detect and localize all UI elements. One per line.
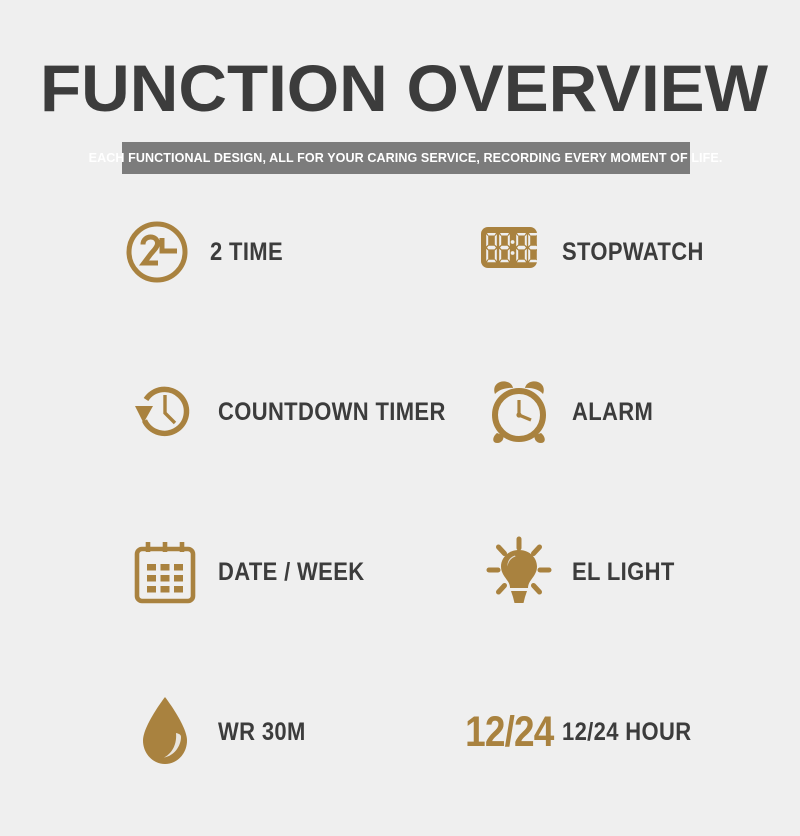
twelve-twentyfour-text-icon: 12/24	[470, 693, 548, 771]
two-time-clock-icon	[118, 213, 196, 291]
feature-item-stopwatch: STOPWATCH	[470, 204, 723, 300]
feature-row: DATE / WEEK	[0, 516, 800, 676]
feature-label: COUNTDOWN TIMER	[218, 399, 446, 425]
feature-item-alarm: ALARM	[480, 364, 664, 460]
feature-grid: 2 TIME	[0, 196, 800, 836]
feature-item-wr-30m: WR 30M	[126, 684, 318, 780]
alarm-clock-icon	[480, 373, 558, 451]
light-bulb-icon	[480, 533, 558, 611]
feature-label: WR 30M	[218, 719, 306, 745]
feature-row: WR 30M 12/24 12/24 HOUR	[0, 676, 800, 836]
subtitle-text: EACH FUNCTIONAL DESIGN, ALL FOR YOUR CAR…	[89, 151, 723, 165]
countdown-timer-icon	[126, 373, 204, 451]
feature-label: ALARM	[572, 399, 653, 425]
feature-label: STOPWATCH	[562, 239, 704, 265]
feature-label: 2 TIME	[210, 239, 283, 265]
twelve-twentyfour-glyph: 12/24	[465, 710, 553, 754]
feature-item-2-time: 2 TIME	[118, 204, 293, 300]
feature-label: DATE / WEEK	[218, 559, 364, 585]
function-overview-page: FUNCTION OVERVIEW EACH FUNCTIONAL DESIGN…	[0, 0, 800, 800]
feature-item-date-week: DATE / WEEK	[126, 524, 384, 620]
page-title: FUNCTION OVERVIEW	[40, 52, 785, 124]
feature-item-el-light: EL LIGHT	[480, 524, 689, 620]
feature-label: EL LIGHT	[572, 559, 675, 585]
feature-row: COUNTDOWN TIMER	[0, 356, 800, 516]
feature-row: 2 TIME	[0, 196, 800, 356]
feature-item-12-24-hour: 12/24 12/24 HOUR	[470, 684, 709, 780]
feature-item-countdown-timer: COUNTDOWN TIMER	[126, 364, 477, 460]
feature-label: 12/24 HOUR	[562, 719, 691, 745]
stopwatch-digital-icon	[470, 213, 548, 291]
calendar-icon	[126, 533, 204, 611]
subtitle-bar: EACH FUNCTIONAL DESIGN, ALL FOR YOUR CAR…	[122, 142, 690, 174]
water-drop-icon	[126, 693, 204, 771]
